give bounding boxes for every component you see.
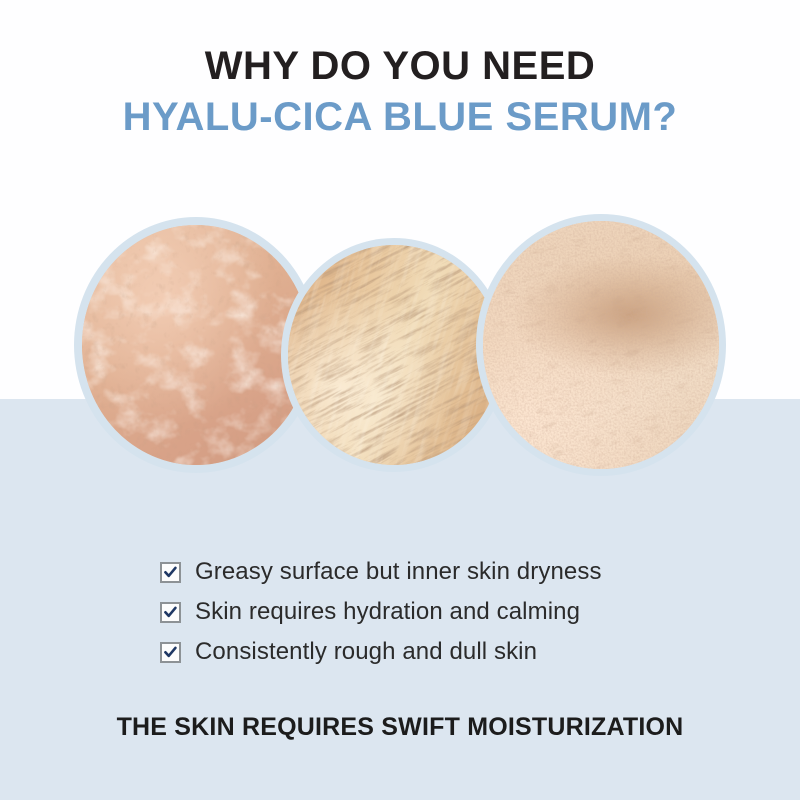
skin-base-3	[483, 221, 719, 469]
skin-image-dull-pores	[483, 221, 719, 469]
checklist-item-label: Consistently rough and dull skin	[195, 638, 537, 666]
skin-image-rough-textured	[288, 245, 500, 465]
checklist-item[interactable]: Skin requires hydration and calming	[160, 592, 700, 632]
checklist-item[interactable]: Consistently rough and dull skin	[160, 632, 700, 672]
skin-image-gallery	[0, 0, 800, 500]
checklist-item[interactable]: Greasy surface but inner skin dryness	[160, 552, 700, 592]
checkbox-checked-icon[interactable]	[160, 602, 181, 623]
checklist-item-label: Greasy surface but inner skin dryness	[195, 558, 602, 586]
skin-base-1	[82, 225, 310, 465]
skin-base-2	[288, 245, 500, 465]
footer-tagline: THE SKIN REQUIRES SWIFT MOISTURIZATION	[0, 713, 800, 742]
checkbox-checked-icon[interactable]	[160, 562, 181, 583]
checklist-item-label: Skin requires hydration and calming	[195, 598, 580, 626]
checkbox-checked-icon[interactable]	[160, 642, 181, 663]
promo-poster: WHY DO YOU NEED HYALU-CICA BLUE SERUM?	[0, 0, 800, 800]
symptom-checklist: Greasy surface but inner skin dryness Sk…	[160, 552, 700, 672]
skin-image-cracked-dry	[82, 225, 310, 465]
